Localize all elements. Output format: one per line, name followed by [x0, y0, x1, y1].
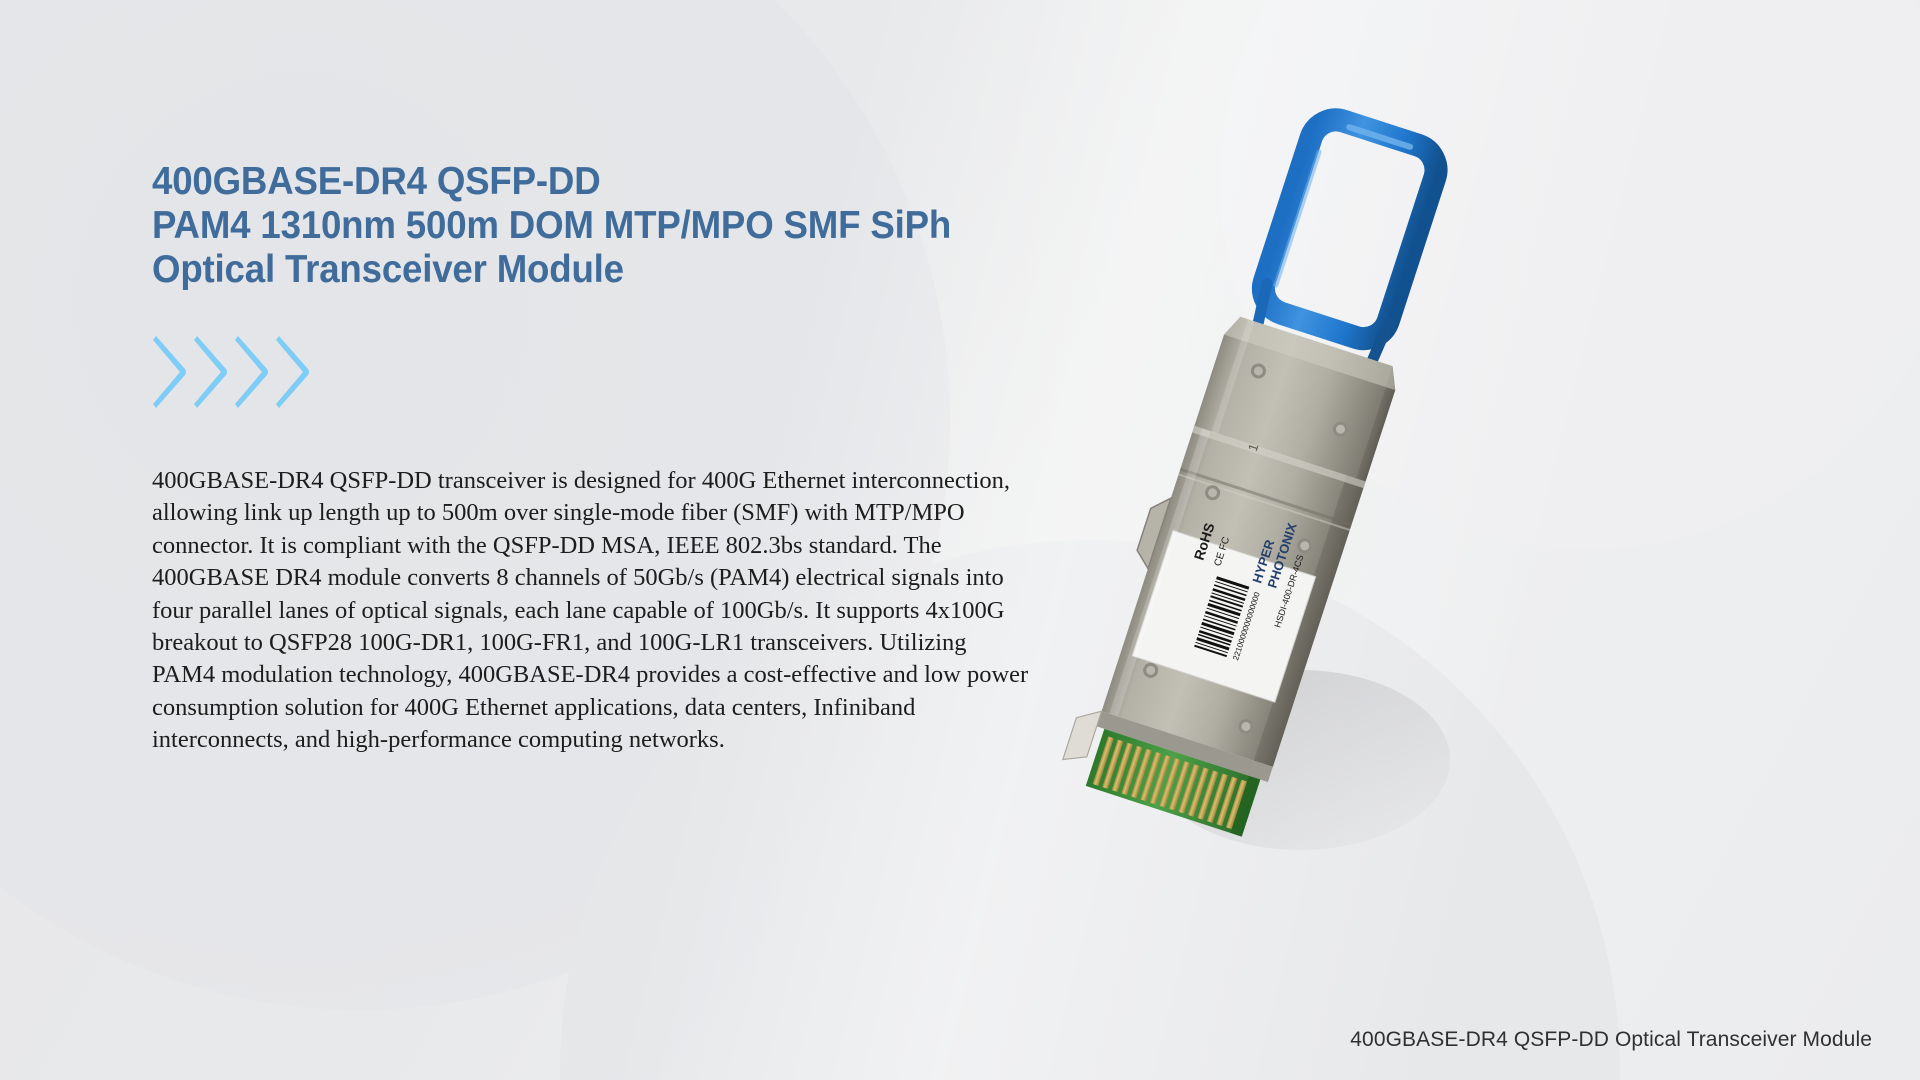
page-title-line-2: PAM4 1310nm 500m DOM MTP/MPO SMF SiPh	[152, 204, 998, 248]
chevron-decoration	[152, 336, 309, 408]
bail-handle	[1257, 113, 1443, 345]
chevron-right-icon	[275, 336, 309, 408]
content-column: 400GBASE-DR4 QSFP-DD PAM4 1310nm 500m DO…	[152, 160, 1052, 292]
poster-stage: 400GBASE-DR4 QSFP-DD PAM4 1310nm 500m DO…	[0, 0, 1920, 1080]
chevron-right-icon	[152, 336, 186, 408]
chevron-right-icon	[193, 336, 227, 408]
product-description: 400GBASE-DR4 QSFP-DD transceiver is desi…	[152, 465, 1032, 757]
page-title: 400GBASE-DR4 QSFP-DD PAM4 1310nm 500m DO…	[152, 160, 998, 292]
page-title-line-3: Optical Transceiver Module	[152, 248, 998, 292]
chevron-right-icon	[234, 336, 268, 408]
product-image: 1 HYPER PHOTONIX RoHS CE FC HSDI-400-DR-…	[1000, 60, 1560, 850]
page-title-line-1: 400GBASE-DR4 QSFP-DD	[152, 160, 998, 204]
image-caption: 400GBASE-DR4 QSFP-DD Optical Transceiver…	[1350, 1028, 1872, 1052]
